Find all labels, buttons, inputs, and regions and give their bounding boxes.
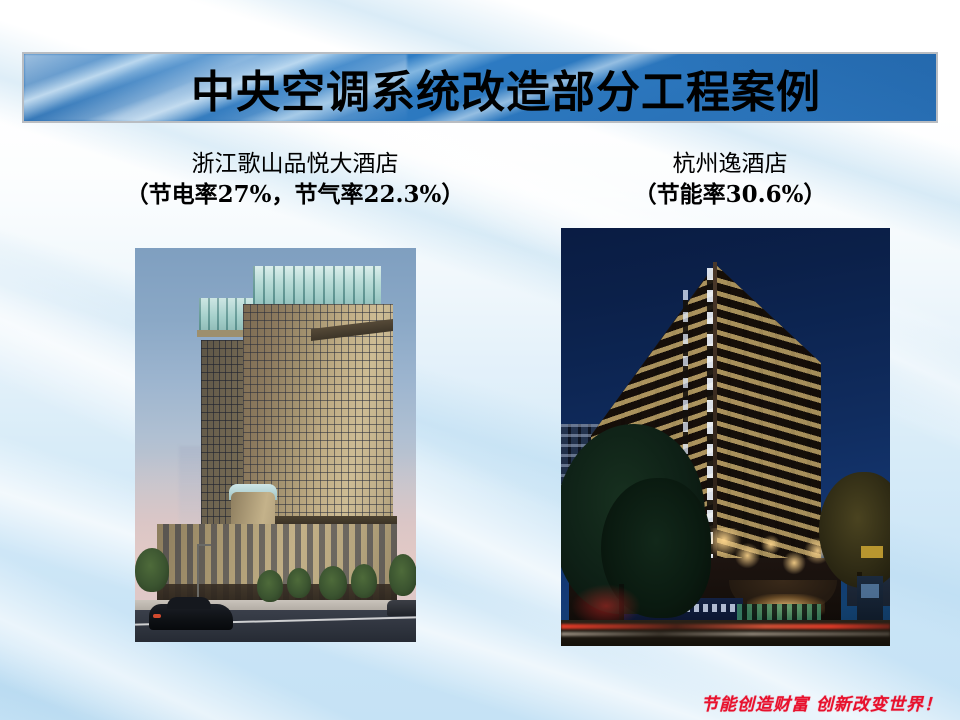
red-light-trail <box>561 624 890 629</box>
street-tree <box>257 570 283 602</box>
case-caption-left: 浙江歌山品悦大酒店 （节电率27%，节气率22.3%） <box>95 150 495 210</box>
street-sign <box>861 546 883 558</box>
footer-slogan: 节能创造财富 创新改变世界！ <box>701 690 942 715</box>
street-lamp <box>197 544 199 600</box>
street-tree <box>389 554 416 596</box>
case-metrics-right: （节能率30.6%） <box>565 181 895 210</box>
street-kiosk <box>857 576 883 622</box>
case-metrics-left: （节电率27%，节气率22.3%） <box>95 181 495 210</box>
street-tree <box>351 564 377 598</box>
street-tree <box>287 568 311 598</box>
parked-car <box>387 600 416 616</box>
white-light-trail <box>561 632 890 636</box>
car-taillight <box>153 614 161 618</box>
title-banner: 中央空调系统改造部分工程案例 <box>22 52 938 123</box>
case-photo-right <box>561 228 890 646</box>
crown-slats-main <box>253 266 381 308</box>
tower-crown <box>253 266 381 308</box>
case-photo-left <box>135 248 416 642</box>
presentation-slide: 中央空调系统改造部分工程案例 浙江歌山品悦大酒店 （节电率27%，节气率22.3… <box>0 0 960 720</box>
case-name-left: 浙江歌山品悦大酒店 <box>95 150 495 179</box>
foreground-car <box>149 604 233 630</box>
case-caption-right: 杭州逸酒店 （节能率30.6%） <box>565 150 895 210</box>
street-tree <box>135 548 169 592</box>
case-name-right: 杭州逸酒店 <box>565 150 895 179</box>
street-tree <box>319 566 347 600</box>
page-title: 中央空调系统改造部分工程案例 <box>24 54 936 121</box>
